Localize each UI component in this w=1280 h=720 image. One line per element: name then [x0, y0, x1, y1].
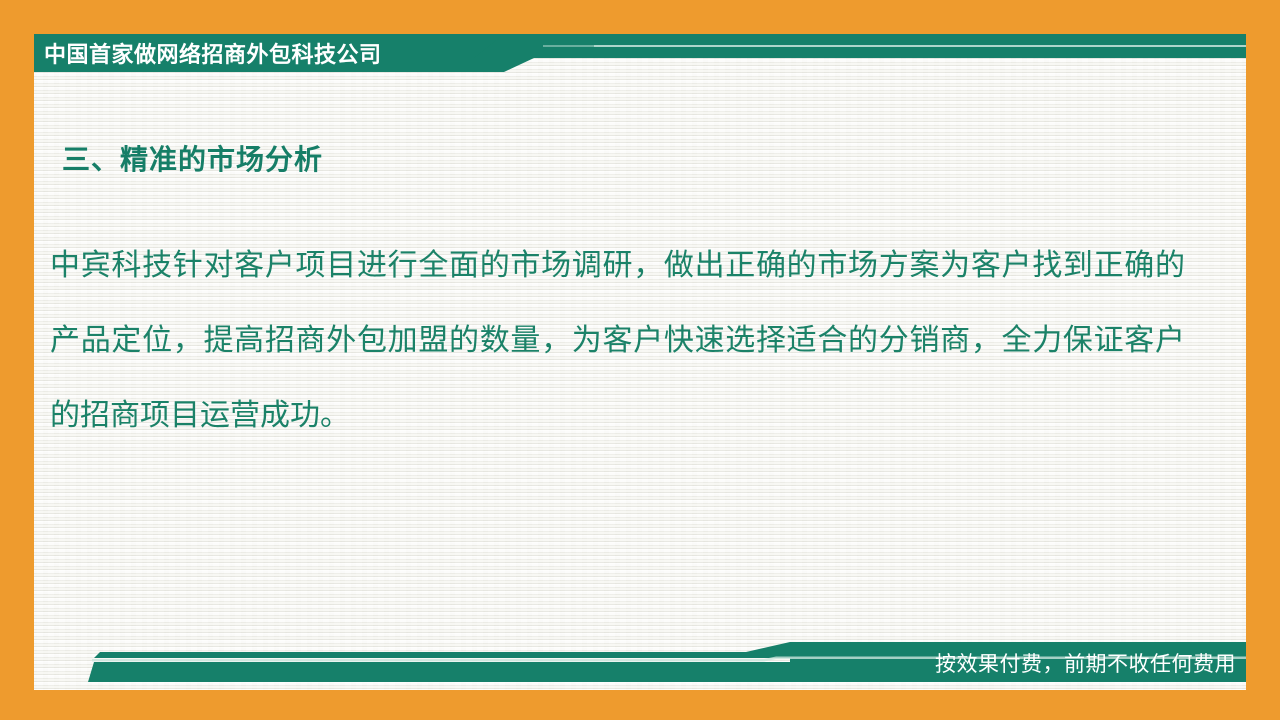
footer-tagline: 按效果付费，前期不收任何费用 — [935, 648, 1236, 682]
slide: 中国首家做网络招商外包科技公司 三、精准的市场分析 中宾科技针对客户项目进行全面… — [0, 0, 1280, 720]
header-title: 中国首家做网络招商外包科技公司 — [44, 37, 382, 73]
section-heading: 三、精准的市场分析 — [62, 138, 323, 178]
body-paragraph: 中宾科技针对客户项目进行全面的市场调研，做出正确的市场方案为客户找到正确的产品定… — [50, 228, 1185, 453]
